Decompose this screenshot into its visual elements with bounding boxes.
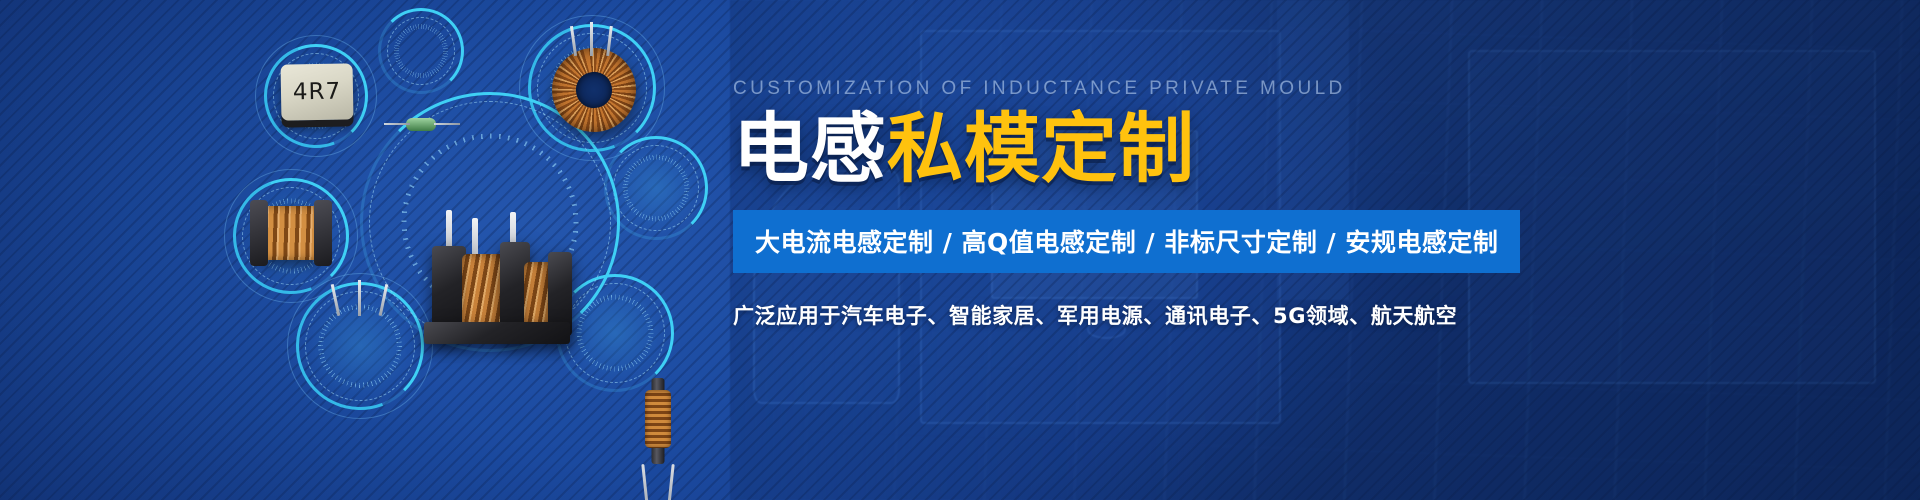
tech-ring-axial xyxy=(378,8,464,94)
banner-eyebrow-text: CUSTOMIZATION OF INDUCTANCE PRIVATE MOUL… xyxy=(733,78,1853,100)
smd-inductor-marking: 4R7 xyxy=(293,79,342,106)
product-axial-wire-component xyxy=(384,118,464,134)
banner-subline: 广泛应用于汽车电子、智能家居、军用电源、通讯电子、5G领域、航天航空 xyxy=(733,300,1853,330)
banner-headline: 电感私模定制 xyxy=(733,111,1853,187)
feature-bar-text: 大电流电感定制 / 高Q值电感定制 / 非标尺寸定制 / 安规电感定制 xyxy=(755,228,1498,257)
promo-banner: 4R7 xyxy=(0,0,1920,500)
headline-yellow-part: 私模定制 xyxy=(887,104,1195,193)
green-toroid-leads xyxy=(328,282,400,316)
toroid-top-leads xyxy=(568,26,626,56)
feature-bar: 大电流电感定制 / 高Q值电感定制 / 非标尺寸定制 / 安规电感定制 xyxy=(733,210,1520,273)
product-large-transformer-choke-cluster xyxy=(414,210,574,350)
smd-inductor-body: 4R7 xyxy=(281,63,354,120)
product-smd-power-inductor: 4R7 xyxy=(281,64,353,120)
banner-content: CUSTOMIZATION OF INDUCTANCE PRIVATE MOUL… xyxy=(733,78,1853,330)
product-flat-wire-coil-inductor xyxy=(252,196,332,272)
headline-white-part: 电感 xyxy=(733,104,887,193)
product-rod-core-inductor xyxy=(628,390,688,500)
